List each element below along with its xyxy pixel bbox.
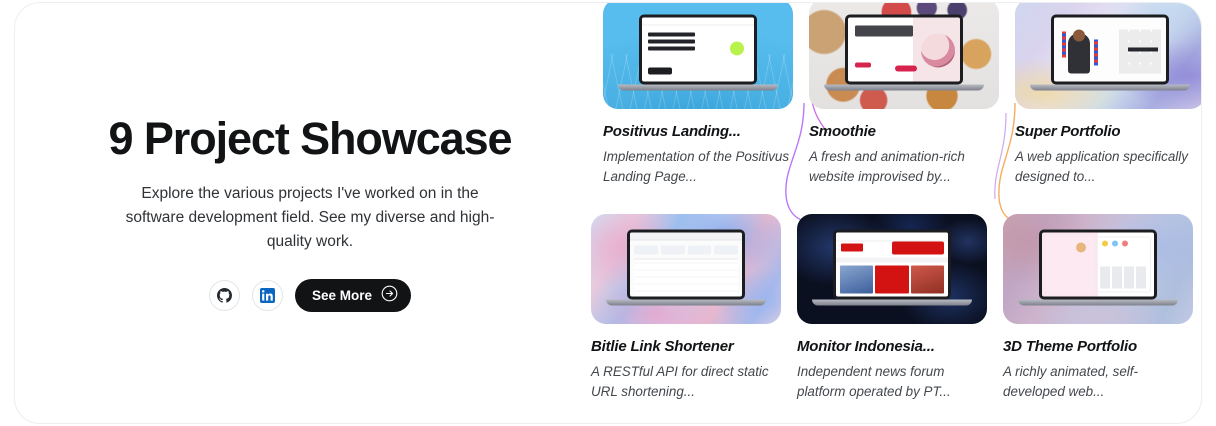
laptop-mockup: [627, 229, 745, 305]
project-card[interactable]: Positivus Landing... Implementation of t…: [603, 2, 793, 203]
laptop-mockup: [1039, 229, 1157, 305]
see-more-button[interactable]: See More: [295, 279, 411, 312]
project-thumbnail: [797, 214, 987, 324]
project-description: A RESTful API for direct static URL shor…: [591, 362, 781, 401]
project-card[interactable]: 3D Theme Portfolio A richly animated, se…: [1003, 214, 1193, 418]
laptop-mockup: [1051, 14, 1169, 90]
project-thumbnail: [1003, 214, 1193, 324]
project-thumbnail: [591, 214, 781, 324]
project-description: A richly animated, self-developed web...: [1003, 362, 1193, 401]
project-thumbnail: [603, 2, 793, 109]
project-title: Smoothie: [809, 123, 999, 140]
project-title: Positivus Landing...: [603, 123, 793, 140]
intro-actions: See More: [209, 279, 411, 312]
intro-section: 9 Project Showcase Explore the various p…: [15, 3, 605, 423]
page-title: 9 Project Showcase: [109, 114, 512, 164]
project-title: Monitor Indonesia...: [797, 338, 987, 355]
project-card[interactable]: Super Portfolio A web application specif…: [1015, 2, 1202, 203]
project-card[interactable]: Bitlie Link Shortener A RESTful API for …: [591, 214, 781, 418]
projects-row-2: Bitlie Link Shortener A RESTful API for …: [591, 214, 1202, 418]
project-title: Bitlie Link Shortener: [591, 338, 781, 355]
project-title: 3D Theme Portfolio: [1003, 338, 1193, 355]
linkedin-link[interactable]: [252, 280, 283, 311]
project-thumbnail: [809, 2, 999, 109]
project-description: A web application specifically designed …: [1015, 147, 1202, 186]
laptop-mockup: [833, 229, 951, 305]
linkedin-icon: [260, 288, 275, 303]
projects-grid: Positivus Landing... Implementation of t…: [603, 3, 1202, 423]
see-more-label: See More: [312, 288, 372, 303]
project-thumbnail: [1015, 2, 1202, 109]
laptop-mockup: [639, 14, 757, 90]
github-link[interactable]: [209, 280, 240, 311]
page-subtitle: Explore the various projects I've worked…: [120, 182, 500, 255]
project-showcase-panel: 9 Project Showcase Explore the various p…: [14, 2, 1202, 424]
github-icon: [217, 288, 232, 303]
project-description: A fresh and animation-rich website impro…: [809, 147, 999, 186]
project-description: Independent news forum platform operated…: [797, 362, 987, 401]
projects-row-1: Positivus Landing... Implementation of t…: [603, 2, 1202, 203]
project-card[interactable]: Monitor Indonesia... Independent news fo…: [797, 214, 987, 418]
project-title: Super Portfolio: [1015, 123, 1202, 140]
laptop-mockup: [845, 14, 963, 90]
project-card[interactable]: Smoothie A fresh and animation-rich webs…: [809, 2, 999, 203]
arrow-right-circle-icon: [381, 285, 398, 305]
project-description: Implementation of the Positivus Landing …: [603, 147, 793, 186]
